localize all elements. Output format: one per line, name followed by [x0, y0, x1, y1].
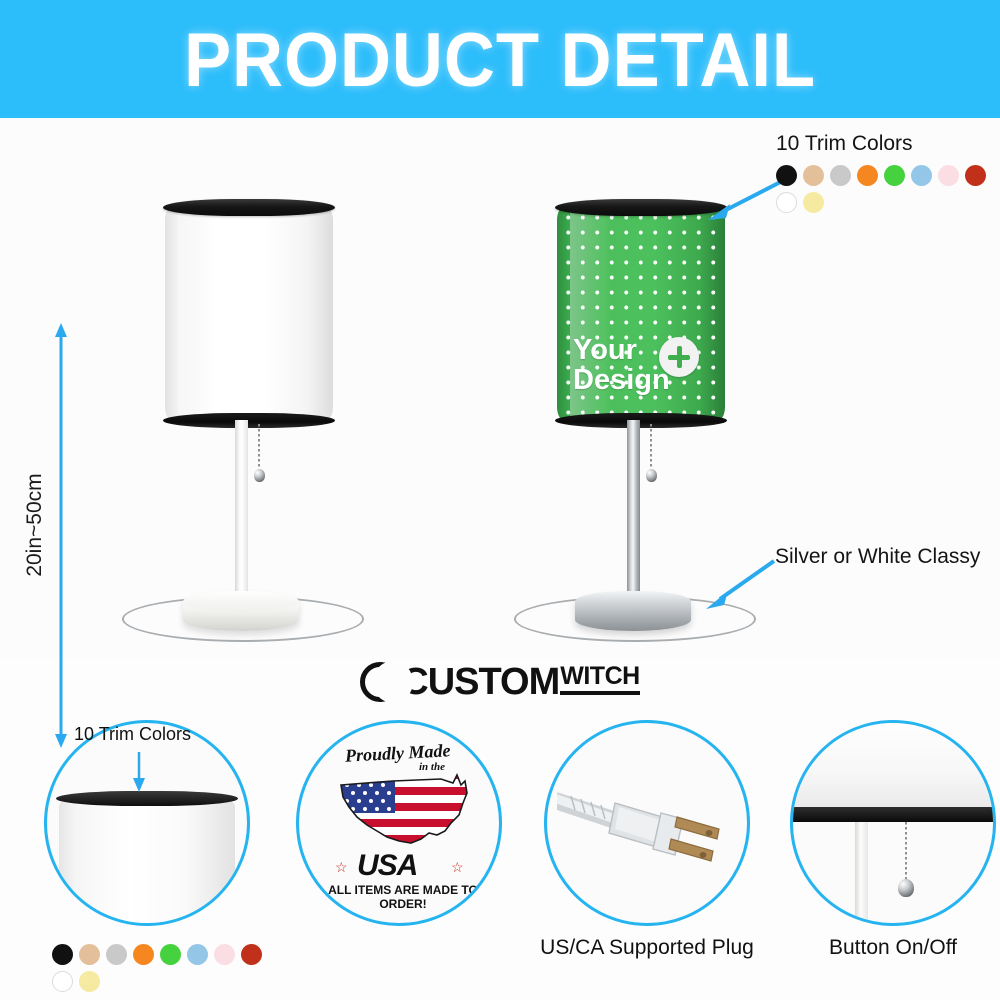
base-finish-pointer-arrow-icon	[700, 553, 780, 613]
height-dimension-label: 20in~50cm	[23, 430, 47, 620]
trim-swatch-black[interactable]	[52, 944, 73, 965]
silver-lamp-base	[575, 591, 691, 631]
chain-ball-icon	[254, 469, 265, 482]
white-lamp-pole	[235, 420, 248, 610]
chain-beads-icon	[905, 822, 907, 880]
feature-shade-trim	[56, 791, 238, 806]
trim-swatch-white[interactable]	[776, 192, 797, 213]
chain-ball-icon	[646, 469, 657, 482]
usa-star-left-icon: ☆	[335, 859, 348, 876]
trim-color-swatches-top[interactable]	[776, 165, 1000, 213]
trim-swatch-black[interactable]	[776, 165, 797, 186]
feature-plug: US/CA Supported Plug	[544, 720, 750, 960]
trim-swatch-yellow[interactable]	[79, 971, 100, 992]
your-design-text: Your Design	[573, 335, 723, 395]
feature-trim-colors-label: 10 Trim Colors	[74, 724, 191, 745]
feature-trim-colors-circle	[44, 720, 250, 926]
usa-subtitle: ALL ITEMS ARE MADE TO ORDER!	[321, 883, 485, 911]
trim-swatch-light-blue[interactable]	[911, 165, 932, 186]
power-plug-icon	[557, 763, 747, 883]
white-lamp-shade	[165, 206, 333, 421]
brand-name-secondary: WITCH	[560, 664, 639, 695]
header-banner: PRODUCT DETAIL	[0, 0, 1000, 118]
chain-beads-icon	[650, 424, 652, 470]
brand-logo: CUSTOM WITCH	[0, 662, 1000, 702]
feature-button-trim	[790, 807, 996, 822]
crescent-moon-c-icon	[360, 662, 400, 702]
white-shade-bottom-trim	[163, 413, 335, 428]
trim-swatch-green[interactable]	[160, 944, 181, 965]
pull-chain-switch-icon[interactable]	[905, 822, 907, 880]
trim-swatch-light-blue[interactable]	[187, 944, 208, 965]
silver-lamp-pole	[627, 420, 640, 610]
feature-button-pole	[855, 822, 868, 926]
trim-swatch-red[interactable]	[965, 165, 986, 186]
usa-star-right-icon: ☆	[451, 859, 464, 876]
brand-name-primary: CUSTOM	[401, 663, 559, 701]
feature-button-shade	[790, 720, 996, 809]
trim-swatch-tan[interactable]	[79, 944, 100, 965]
trim-swatch-orange[interactable]	[133, 944, 154, 965]
feature-button: Button On/Off	[790, 720, 996, 960]
white-lamp-base	[183, 591, 299, 631]
feature-shade-body	[59, 801, 235, 926]
trim-colors-callout-label: 10 Trim Colors	[776, 132, 913, 156]
trim-swatch-red[interactable]	[241, 944, 262, 965]
feature-plug-caption: US/CA Supported Plug	[508, 936, 786, 960]
trim-swatch-gray[interactable]	[106, 944, 127, 965]
feature-usa-circle: Proudly Made in the	[296, 720, 502, 926]
usa-flag-map-icon	[333, 771, 473, 849]
shade-gloss-highlight	[178, 210, 218, 416]
chain-beads-icon	[258, 424, 260, 470]
feature-trim-arrow-down-icon	[132, 752, 146, 792]
green-lamp-shade: Your Design	[557, 206, 725, 421]
design-line-1: Your	[573, 335, 723, 365]
feature-trim-colors: 10 Trim Colors	[44, 720, 250, 926]
product-detail-page: PRODUCT DETAIL 7in~18cm 20in~50cm	[0, 0, 1000, 1000]
trim-swatch-orange[interactable]	[857, 165, 878, 186]
feature-button-caption: Button On/Off	[780, 936, 1000, 960]
usa-badge: Proudly Made in the	[327, 743, 479, 893]
trim-swatch-pink[interactable]	[938, 165, 959, 186]
trim-swatch-tan[interactable]	[803, 165, 824, 186]
trim-swatch-pink[interactable]	[214, 944, 235, 965]
trim-swatch-white[interactable]	[52, 971, 73, 992]
green-lamp-pull-chain[interactable]	[650, 424, 652, 470]
white-shade-surface	[165, 206, 333, 421]
feature-made-in-usa: Proudly Made in the	[296, 720, 502, 926]
design-line-2: Design	[573, 365, 723, 395]
trim-swatch-green[interactable]	[884, 165, 905, 186]
trim-color-swatches-bottom[interactable]	[52, 944, 288, 992]
page-title: PRODUCT DETAIL	[35, 20, 965, 102]
base-finish-callout-label: Silver or White Classy	[775, 545, 980, 569]
green-shade-surface: Your Design	[557, 206, 725, 421]
white-lamp-pull-chain[interactable]	[258, 424, 260, 470]
silver-base-top	[575, 591, 691, 612]
white-shade-top-trim	[163, 199, 335, 216]
feature-button-circle	[790, 720, 996, 926]
chain-ball-icon	[898, 879, 914, 897]
trim-swatch-yellow[interactable]	[803, 192, 824, 213]
feature-plug-circle	[544, 720, 750, 926]
plus-icon[interactable]	[659, 337, 699, 377]
green-shade-bottom-trim	[555, 413, 727, 428]
usa-country-label: USA	[357, 849, 417, 883]
trim-swatch-gray[interactable]	[830, 165, 851, 186]
main-product-stage: 7in~18cm 20in~50cm	[0, 118, 1000, 658]
white-base-top	[183, 591, 299, 612]
